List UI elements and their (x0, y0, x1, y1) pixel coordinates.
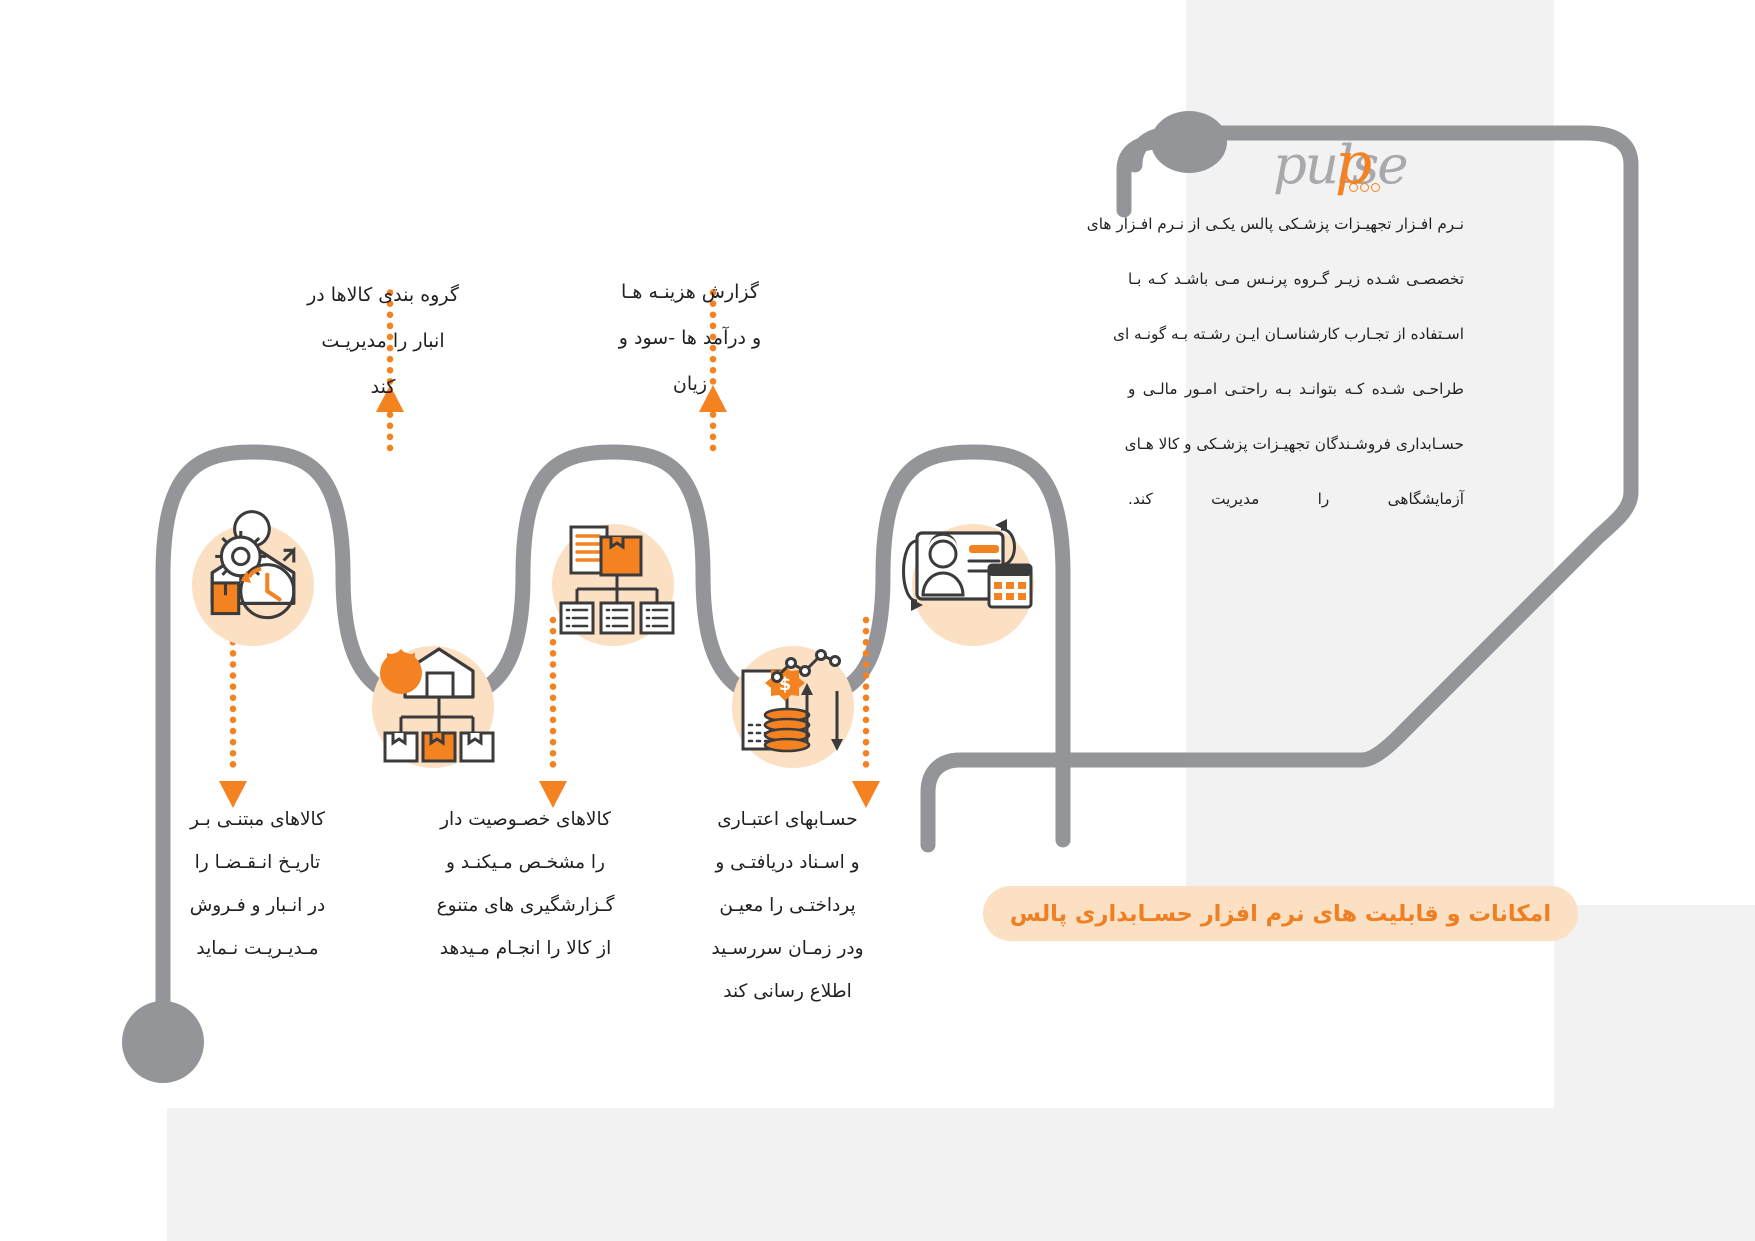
caption-grouping: گروه بندی كالاها در انبار را مديريـت كند (268, 272, 498, 410)
brand-logo: pulse p (1273, 135, 1503, 195)
caption-line: كالاهای مبتنـی بـر (150, 798, 365, 841)
caption-line: زيان (575, 361, 805, 407)
caption-reports: گزارش هزينـه هـا و درآمد ها -سود و زيان (575, 269, 805, 407)
caption-line: را مشخـص مـيكنـد و (418, 841, 633, 884)
intro-line: آزمايشگاهی را مديريت كند. (1128, 472, 1464, 527)
node-product-tree-icon[interactable] (552, 524, 674, 646)
intro-line: طراحـی شـده كـه بتوانـد بـه راحتـی امـور… (1128, 362, 1464, 417)
caption-line: كالاهای خصـوصيت دار (418, 798, 633, 841)
caption-attributes: كالاهای خصـوصيت دار را مشخـص مـيكنـد و گ… (418, 798, 633, 970)
headline-banner: امكانات و قابليت های نرم افزار حسـابداری… (983, 886, 1578, 941)
caption-line: مـديـريـت نـمايد (150, 927, 365, 970)
caption-line: اطلاع رسانی كند (680, 970, 895, 1013)
intro-paragraph: نـرم افـزار تجهيـزات پزشـكی پالس يكـی از… (1128, 197, 1464, 527)
caption-line: گروه بندی كالاها در (268, 272, 498, 318)
caption-line: پرداختـی را معيـن (680, 884, 895, 927)
node-warehouse-clock-icon[interactable] (192, 512, 314, 646)
caption-line: و درآمد ها -سود و (575, 315, 805, 361)
intro-line: نـرم افـزار تجهيـزات پزشـكی پالس يكـی از… (1128, 197, 1464, 252)
intro-line: حسـابداری فروشـندگان تجهيـزات پزشـكی و ك… (1128, 417, 1464, 472)
caption-line: در انـبار و فـروش (150, 884, 365, 927)
caption-expiry: كالاهای مبتنـی بـر تاريـخ انـقـضـا را در… (150, 798, 365, 970)
node-customer-calendar-icon[interactable] (904, 519, 1035, 646)
caption-credit-accounts: حسـابهای اعتبـاری و اسـناد دريافتـی و پر… (680, 798, 895, 1013)
logo-dots-icon (1349, 177, 1382, 196)
node-warehouse-grouping-icon[interactable] (372, 646, 494, 768)
caption-line: و اسـناد دريافتـی و (680, 841, 895, 884)
infographic-canvas: $ (0, 0, 1755, 1241)
caption-line: گزارش هزينـه هـا (575, 269, 805, 315)
node-profit-loss-chart-icon[interactable]: $ (732, 646, 854, 768)
caption-line: ودر زمـان سررسـيد (680, 927, 895, 970)
caption-line: انبار را مديريـت (268, 318, 498, 364)
caption-line: از كالا را انجـام مـيدهد (418, 927, 633, 970)
caption-line: كند (268, 364, 498, 410)
headline-banner-label: امكانات و قابليت های نرم افزار حسـابداری… (1010, 901, 1551, 927)
caption-line: گـزارشگيری های متنوع (418, 884, 633, 927)
intro-line: اسـتفاده از تجـارب كارشناسـان ايـن رشـته… (1128, 307, 1464, 362)
caption-line: تاريـخ انـقـضـا را (150, 841, 365, 884)
caption-line: حسـابهای اعتبـاری (680, 798, 895, 841)
intro-line: تخصصـی شـده زيـر گـروه پرنـس مـی باشـد ك… (1128, 252, 1464, 307)
